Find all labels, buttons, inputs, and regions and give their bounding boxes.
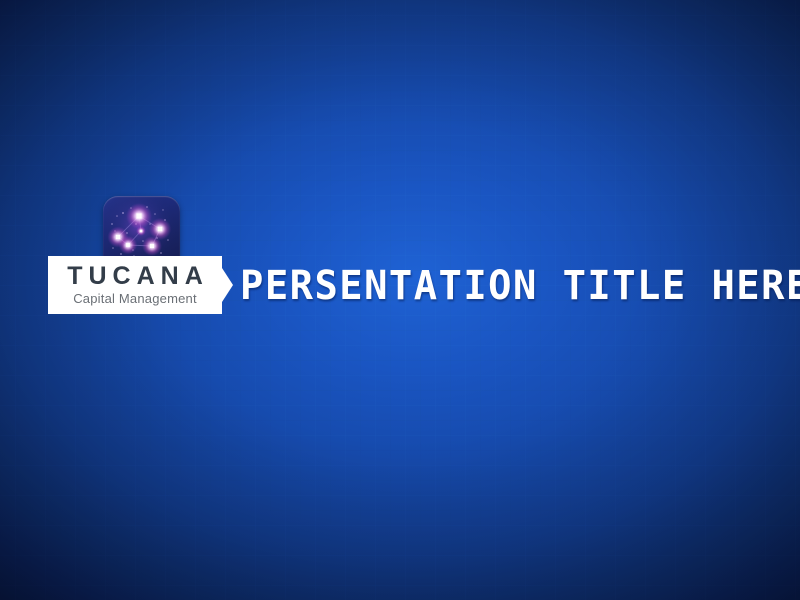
slide-title: PERSENTATION TITLE HERE [240,264,800,308]
presentation-slide: TUCANA Capital Management PERSENTATION T… [0,0,800,600]
logo-band-chevron-icon [222,268,233,302]
brand-tagline: Capital Management [48,291,222,307]
brand-wordmark: TUCANA [48,262,222,290]
